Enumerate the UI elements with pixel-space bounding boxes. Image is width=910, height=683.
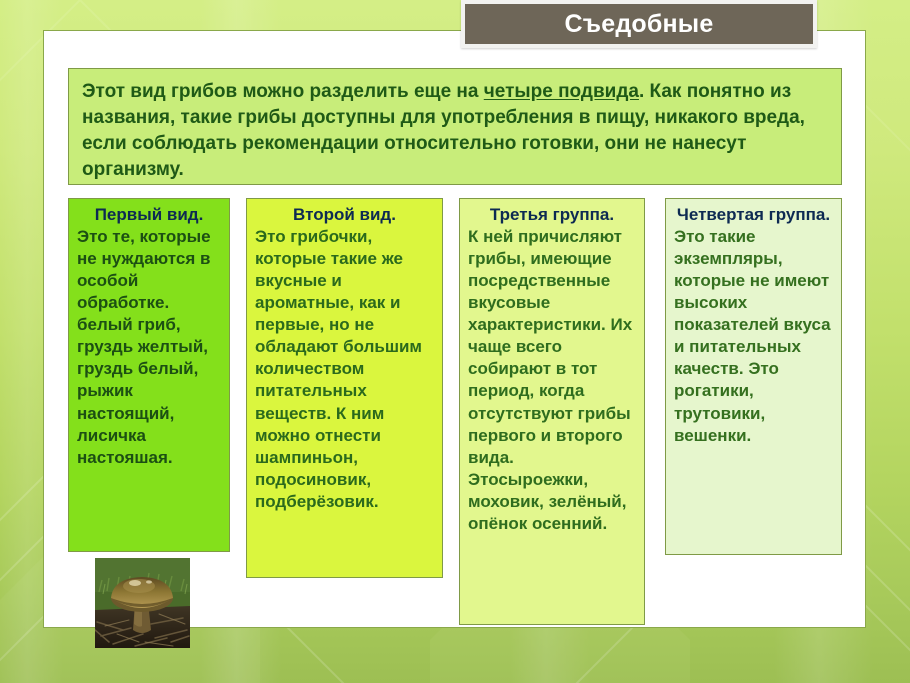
category-card-first: Первый вид. Это те, которые не нуждаются…: [68, 198, 230, 552]
card-body-third: К ней причисляют грибы, имеющие посредст…: [468, 226, 636, 535]
category-card-fourth: Четвертая группа. Это такие экземпляры, …: [665, 198, 842, 555]
card-title-second: Второй вид.: [255, 204, 434, 226]
intro-text-emphasis: четыре подвида: [484, 81, 639, 102]
mushroom-photo-image: [95, 558, 190, 648]
intro-paragraph: Этот вид грибов можно разделить еще на ч…: [82, 79, 829, 183]
card-body-fourth: Это такие экземпляры, которые не имеют в…: [674, 226, 833, 447]
card-title-first: Первый вид.: [77, 204, 221, 226]
card-body-first: Это те, которые не нуждаются в особой об…: [77, 226, 221, 469]
card-title-third: Третья группа.: [468, 204, 636, 226]
intro-text-before: Этот вид грибов можно разделить еще на: [82, 81, 484, 102]
mushroom-photo: [95, 558, 190, 648]
card-body-second: Это грибочки, которые такие же вкусные и…: [255, 226, 434, 513]
slide-title-bar: Съедобные: [461, 0, 817, 48]
page-title: Съедобные: [565, 10, 714, 39]
card-title-fourth: Четвертая группа.: [674, 204, 833, 226]
category-card-second: Второй вид. Это грибочки, которые такие …: [246, 198, 443, 578]
intro-text-box: Этот вид грибов можно разделить еще на ч…: [68, 68, 842, 185]
category-card-third: Третья группа. К ней причисляют грибы, и…: [459, 198, 645, 625]
